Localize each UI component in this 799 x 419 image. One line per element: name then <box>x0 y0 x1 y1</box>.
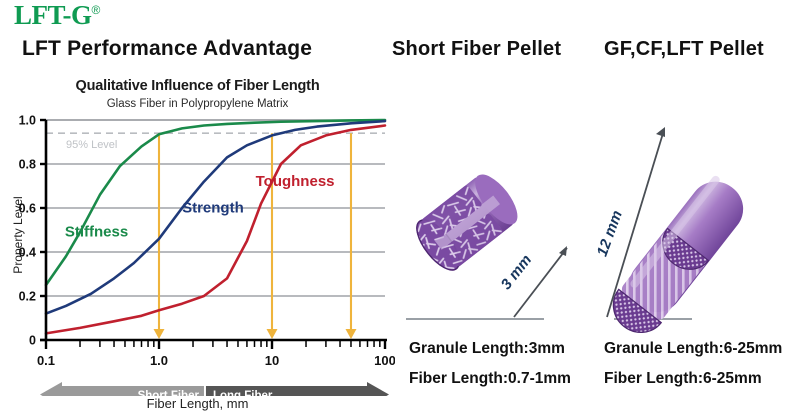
dimension-label-3mm: 3 mm <box>498 252 536 293</box>
x-tick-label: 10 <box>265 353 279 368</box>
curve-label-strength: Strength <box>182 199 244 216</box>
caption-long-granule: Granule Length:6-25mm <box>604 340 782 358</box>
chart-plot: 95% LevelStiffnessStrengthToughness00.20… <box>0 112 395 396</box>
curve-label-stiffness: Stiffness <box>65 224 128 241</box>
y-tick-label: 0.8 <box>19 158 36 172</box>
dimension-arrowhead-12mm <box>656 127 665 137</box>
marker-arrowhead <box>267 329 278 339</box>
range-bar-left-label: Short Fiber <box>138 390 200 396</box>
registered-trademark-icon: ® <box>92 3 100 17</box>
chart-title: Qualitative Influence of Fiber Length <box>0 78 395 94</box>
chart-subtitle: Glass Fiber in Polypropylene Matrix <box>0 98 395 110</box>
y-tick-label: 0.6 <box>19 202 36 216</box>
brand-name: LFT-G <box>14 0 92 30</box>
y-tick-label: 1.0 <box>19 114 36 128</box>
dimension-label-12mm: 12 mm <box>594 208 626 258</box>
caption-long-fiber: Fiber Length:6-25mm <box>604 370 762 388</box>
pellet-illustrations: 3 mm12 mm <box>392 70 799 340</box>
heading-middle: Short Fiber Pellet <box>392 38 561 61</box>
chart-panel: Qualitative Influence of Fiber Length Gl… <box>0 78 395 419</box>
curve-label-toughness: Toughness <box>256 173 335 190</box>
caption-short-granule: Granule Length:3mm <box>409 340 565 358</box>
range-bar-arrow-right <box>367 382 389 396</box>
heading-right: GF,CF,LFT Pellet <box>604 38 764 61</box>
dimension-arrowhead-3mm <box>559 246 567 256</box>
y-tick-label: 0 <box>29 334 36 348</box>
brand-logo: LFT-G® <box>14 2 100 29</box>
x-tick-label: 1.0 <box>150 353 168 368</box>
y-tick-label: 0.4 <box>19 246 36 260</box>
x-tick-label: 100 <box>374 353 395 368</box>
heading-left: LFT Performance Advantage <box>22 37 312 61</box>
reference-line-label: 95% Level <box>66 139 117 151</box>
marker-arrowhead <box>345 329 356 339</box>
y-tick-label: 0.2 <box>19 290 36 304</box>
x-axis-label: Fiber Length, mm <box>0 396 395 411</box>
pellet-diagram: 3 mm12 mm <box>392 70 799 340</box>
marker-arrowhead <box>154 329 165 339</box>
caption-short-fiber: Fiber Length:0.7-1mm <box>409 370 571 388</box>
x-tick-label: 0.1 <box>37 353 55 368</box>
slide-root: LFT-G® LFT Performance Advantage Short F… <box>0 0 799 419</box>
range-bar-right-label: Long Fiber <box>213 390 273 396</box>
range-bar-arrow-left <box>40 382 62 396</box>
